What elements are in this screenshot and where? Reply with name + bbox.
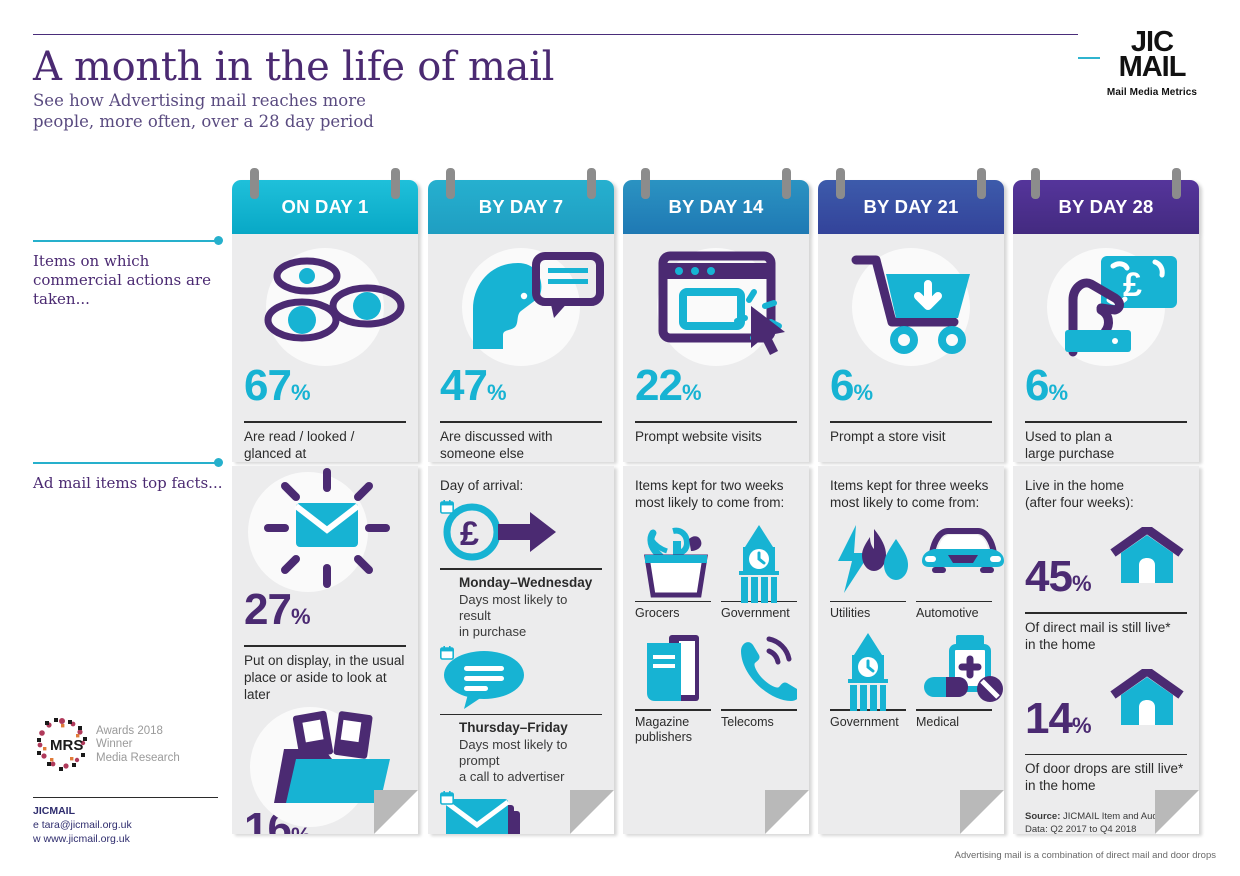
binder-ring-left-icon — [836, 168, 845, 199]
contact-email[interactable]: e tara@jicmail.org.uk — [33, 818, 132, 832]
page-subtitle: See how Advertising mail reaches more pe… — [33, 90, 374, 132]
column-tab-label: BY DAY 14 — [668, 196, 763, 218]
utilities-icon — [834, 523, 910, 595]
top-stat-value: 6% — [830, 364, 873, 415]
calendar-marker — [440, 500, 454, 519]
column-tab-label: BY DAY 28 — [1058, 196, 1153, 218]
car-icon — [920, 523, 1004, 575]
top-icon-area — [244, 234, 406, 362]
bottom-heading: Items kept for two weeksmost likely to c… — [635, 466, 797, 511]
day-row-2: Thursday–FridayDays most likely to promp… — [440, 640, 602, 786]
column-bottom-card-2: Day of arrival:£Monday–WednesdayDays mos… — [428, 466, 614, 834]
sector-cell-4: Medical — [916, 621, 992, 729]
sector-label: Telecoms — [721, 715, 797, 730]
bottom-stat-1: 27%Put on display, in the usualplace or … — [244, 466, 406, 703]
top-icon-area — [635, 234, 797, 362]
binder-ring-left-icon — [446, 168, 455, 199]
binder-ring-right-icon — [1172, 168, 1181, 199]
column-tab-2[interactable]: BY DAY 7 — [428, 180, 614, 234]
logo-tagline: Mail Media Metrics — [1088, 87, 1216, 98]
shopping-cart-icon — [848, 248, 988, 358]
mrs-award-line-2: Winner — [96, 738, 180, 752]
top-stat: 47%Are discussed withsomeone else — [440, 364, 602, 462]
page-fold-corner — [1155, 790, 1199, 834]
sector-grid: UtilitiesAutomotiveGovernmentMedical — [830, 513, 992, 730]
speech-bubble-icon — [442, 648, 530, 710]
top-stat-caption: Are discussed withsomeone else — [440, 428, 602, 462]
sector-cell-3: Government — [830, 621, 906, 729]
sector-label: Magazinepublishers — [635, 715, 711, 745]
bottom-heading: Items kept for three weeksmost likely to… — [830, 466, 992, 511]
logo-line-2: MAIL — [1088, 55, 1216, 80]
big-ben-icon — [834, 631, 902, 713]
column-tab-5[interactable]: BY DAY 28 — [1013, 180, 1199, 234]
top-icon-area — [830, 234, 992, 362]
house-icon — [1109, 669, 1185, 727]
column-bottom-card-3: Items kept for two weeksmost likely to c… — [623, 466, 809, 834]
bottom-heading: Live in the home(after four weeks): — [1025, 466, 1187, 511]
phone-ring-icon — [725, 631, 797, 707]
medicine-icon — [920, 631, 1004, 705]
hand-money-icon: £ — [1043, 248, 1183, 360]
home-stat-value: 14% — [1025, 697, 1091, 748]
page-fold-corner — [570, 790, 614, 834]
sector-cell-4: Telecoms — [721, 621, 797, 744]
mrs-award-line-3: Media Research — [96, 752, 180, 766]
day-subtitle: Days most likely to resultin purchase — [459, 592, 602, 640]
bottom-heading: Day of arrival: — [440, 466, 602, 494]
column-bottom-card-4: Items kept for three weeksmost likely to… — [818, 466, 1004, 834]
binder-ring-left-icon — [1031, 168, 1040, 199]
big-ben-icon — [725, 523, 793, 605]
contact-block: JICMAIL e tara@jicmail.org.uk w www.jicm… — [33, 804, 132, 846]
contact-website[interactable]: w www.jicmail.org.uk — [33, 832, 132, 846]
page-fold-corner — [374, 790, 418, 834]
sector-label: Medical — [916, 715, 992, 730]
calendar-column-4: BY DAY 216%Prompt a store visitItems kep… — [818, 168, 1004, 834]
three-eyes-icon — [262, 248, 412, 358]
calendar-column-2: BY DAY 747%Are discussed withsomeone els… — [428, 168, 614, 834]
calendar-marker — [440, 646, 454, 665]
home-stat-1: 45%Of direct mail is still live*in the h… — [1025, 511, 1187, 653]
calendar-marker — [440, 791, 454, 810]
binder-ring-right-icon — [782, 168, 791, 199]
magazines-icon — [639, 631, 709, 711]
rail-connector-bottom — [33, 458, 225, 468]
bottom-stat-value: 27% — [244, 588, 310, 639]
column-tab-1[interactable]: ON DAY 1 — [232, 180, 418, 234]
binder-ring-left-icon — [250, 168, 259, 199]
sector-cell-1: Grocers — [635, 513, 711, 621]
top-stat-caption: Prompt website visits — [635, 428, 797, 445]
day-row-1: £Monday–WednesdayDays most likely to res… — [440, 494, 602, 640]
top-stat: 6%Used to plan alarge purchase — [1025, 364, 1187, 462]
column-top-card-3: 22%Prompt website visits — [623, 234, 809, 462]
page-fold-corner — [960, 790, 1004, 834]
binder-ring-right-icon — [977, 168, 986, 199]
page-title: A month in the life of mail — [33, 44, 554, 90]
grocery-basket-icon — [639, 523, 711, 603]
sector-grid: GrocersGovernmentMagazinepublishersTelec… — [635, 513, 797, 745]
house-icon — [1109, 527, 1185, 585]
subtitle-line-2: people, more often, over a 28 day period — [33, 111, 374, 132]
sector-cell-1: Utilities — [830, 513, 906, 621]
home-icon-wrap — [1109, 527, 1185, 590]
column-tab-4[interactable]: BY DAY 21 — [818, 180, 1004, 234]
rail-commercial-actions: Items on which commercial actions are ta… — [33, 236, 225, 309]
home-icon-wrap — [1109, 669, 1185, 732]
subtitle-line-1: See how Advertising mail reaches more — [33, 90, 374, 111]
footer-note: Advertising mail is a combination of dir… — [955, 850, 1216, 861]
header-rule — [33, 34, 1078, 35]
top-stat: 22%Prompt website visits — [635, 364, 797, 445]
calendar-tab-icon — [440, 500, 454, 514]
rail-connector-top — [33, 236, 225, 246]
calendar-tab-icon — [440, 646, 454, 660]
rail-label-bottom: Ad mail items top facts... — [33, 474, 225, 493]
sector-label: Utilities — [830, 606, 906, 621]
sector-cell-3: Magazinepublishers — [635, 621, 711, 744]
top-stat: 6%Prompt a store visit — [830, 364, 992, 445]
top-stat-value: 6% — [1025, 364, 1068, 415]
home-stat-2: 14%Of door drops are still live*in the h… — [1025, 653, 1187, 795]
calendar-columns: ON DAY 167%Are read / looked /glanced at… — [232, 168, 1212, 838]
day-title: Monday–Wednesday — [459, 575, 602, 591]
svg-text:MRS: MRS — [50, 737, 83, 754]
contact-name: JICMAIL — [33, 804, 132, 818]
column-tab-label: BY DAY 7 — [479, 196, 564, 218]
browser-cursor-icon — [653, 248, 801, 358]
top-stat-caption: Are read / looked /glanced at — [244, 428, 406, 462]
sector-label: Automotive — [916, 606, 992, 621]
column-tab-3[interactable]: BY DAY 14 — [623, 180, 809, 234]
home-stat-value: 45% — [1025, 555, 1091, 606]
top-stat-value: 67% — [244, 364, 310, 415]
binder-ring-left-icon — [641, 168, 650, 199]
column-tab-label: ON DAY 1 — [282, 196, 369, 218]
day-title: Thursday–Friday — [459, 720, 602, 736]
mrs-award-badge: MRS Awards 2018 Winner Media Research — [33, 716, 233, 774]
bottom-stat-caption: Put on display, in the usualplace or asi… — [244, 652, 406, 703]
top-stat-caption: Prompt a store visit — [830, 428, 992, 445]
column-top-card-4: 6%Prompt a store visit — [818, 234, 1004, 462]
column-top-card-5: £6%Used to plan alarge purchase — [1013, 234, 1199, 462]
page-fold-corner — [765, 790, 809, 834]
top-stat: 67%Are read / looked /glanced at — [244, 364, 406, 462]
column-top-card-1: 67%Are read / looked /glanced at — [232, 234, 418, 462]
top-icon-area — [440, 234, 602, 362]
pound-arrow-icon: £ — [442, 500, 562, 564]
column-top-card-2: 47%Are discussed withsomeone else — [428, 234, 614, 462]
calendar-column-5: BY DAY 28£6%Used to plan alarge purchase… — [1013, 168, 1199, 834]
binder-ring-right-icon — [391, 168, 400, 199]
calendar-column-3: BY DAY 1422%Prompt website visitsItems k… — [623, 168, 809, 834]
top-stat-value: 22% — [635, 364, 701, 415]
binder-ring-right-icon — [587, 168, 596, 199]
top-stat-value: 47% — [440, 364, 506, 415]
shining-envelope-icon — [252, 468, 402, 588]
mrs-logo-icon: MRS — [33, 716, 91, 774]
calendar-column-1: ON DAY 167%Are read / looked /glanced at… — [232, 168, 418, 834]
column-bottom-card-1: 27%Put on display, in the usualplace or … — [232, 466, 418, 834]
calendar-tab-icon — [440, 791, 454, 805]
home-stat-caption: Of direct mail is still live*in the home — [1025, 619, 1187, 653]
sector-cell-2: Automotive — [916, 513, 992, 621]
jicmail-logo: JIC MAIL Mail Media Metrics — [1088, 30, 1216, 98]
column-tab-label: BY DAY 21 — [863, 196, 958, 218]
sector-cell-2: Government — [721, 513, 797, 621]
rail-top-facts: Ad mail items top facts... — [33, 458, 225, 493]
top-icon-area: £ — [1025, 234, 1187, 362]
svg-text:£: £ — [460, 515, 479, 553]
sector-label: Grocers — [635, 606, 711, 621]
column-bottom-card-5: Live in the home(after four weeks):45%Of… — [1013, 466, 1199, 834]
head-speech-bubble-icon — [458, 248, 608, 363]
day-subtitle: Days most likely to prompta call to adve… — [459, 737, 602, 785]
top-stat-caption: Used to plan alarge purchase — [1025, 428, 1187, 462]
stacked-envelopes-icon — [442, 793, 534, 834]
mrs-award-line-1: Awards 2018 — [96, 725, 180, 739]
contact-rule — [33, 797, 218, 798]
rail-label-top: Items on which commercial actions are ta… — [33, 252, 225, 309]
